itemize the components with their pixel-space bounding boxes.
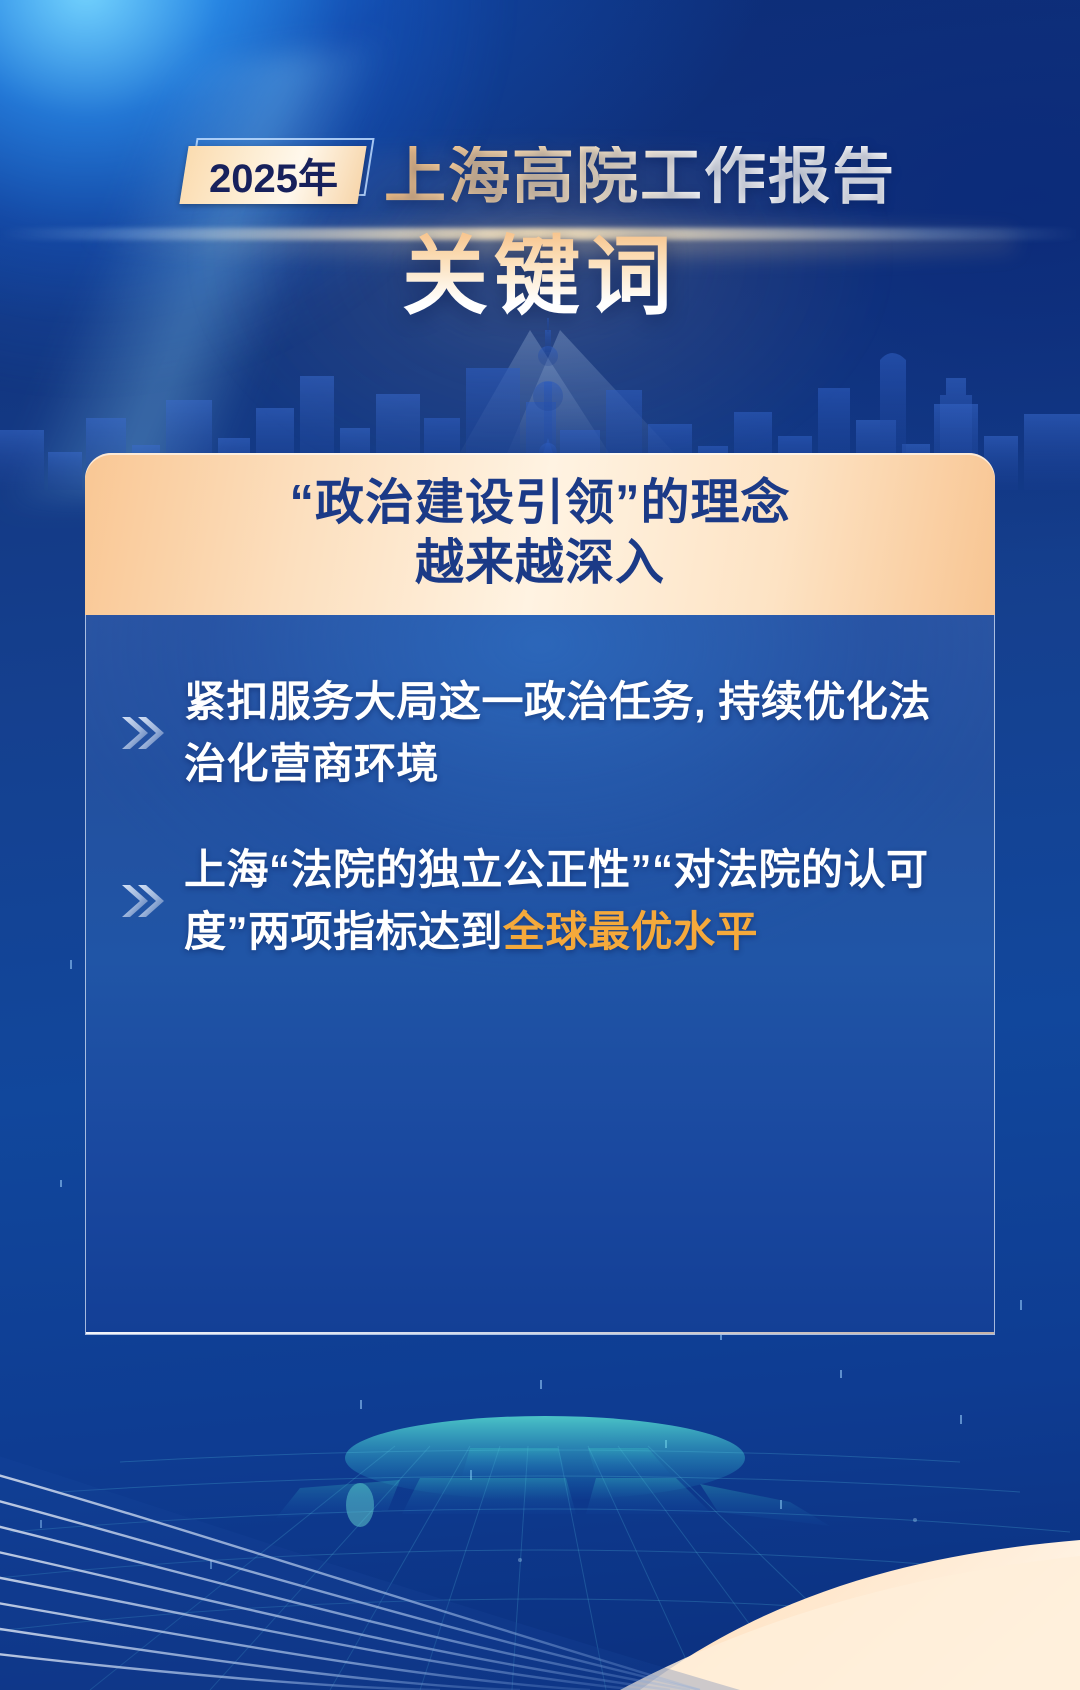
card-body: 紧扣服务大局这一政治任务, 持续优化法治化营商环境 [85, 615, 995, 1335]
bottom-swoosh-decoration [0, 1350, 1080, 1690]
page-title: 上海高院工作报告 [384, 146, 896, 208]
list-item-text-segment: 紧扣服务大局这一政治任务, 持续优化法治化营商环境 [184, 678, 931, 787]
keyword-card: “政治建设引领”的理念 越来越深入 紧扣服务大 [85, 453, 995, 1335]
poster-root: 2025年 上海高院工作报告 关键词 “政治建设引领”的理念 越来越深入 [0, 0, 1080, 1690]
list-item: 紧扣服务大局这一政治任务, 持续优化法治化营商环境 [120, 671, 960, 795]
card-header: “政治建设引领”的理念 越来越深入 [85, 453, 995, 615]
list-item-text: 紧扣服务大局这一政治任务, 持续优化法治化营商环境 [184, 671, 960, 795]
year-badge: 2025年 [184, 146, 370, 208]
list-item: 上海“法院的独立公正性”“对法院的认可度”两项指标达到全球最优水平 [120, 839, 960, 963]
card-header-line-2: 越来越深入 [415, 534, 665, 594]
year-badge-label: 2025年 [208, 146, 337, 204]
card-header-line-1: “政治建设引领”的理念 [289, 474, 790, 534]
list-item-text: 上海“法院的独立公正性”“对法院的认可度”两项指标达到全球最优水平 [184, 839, 960, 963]
double-chevron-icon [120, 711, 166, 755]
double-chevron-icon [120, 879, 166, 923]
title-row: 2025年 上海高院工作报告 [0, 146, 1080, 208]
keyword-title: 关键词 [0, 232, 1080, 322]
list-item-text-highlight: 全球最优水平 [503, 908, 758, 955]
